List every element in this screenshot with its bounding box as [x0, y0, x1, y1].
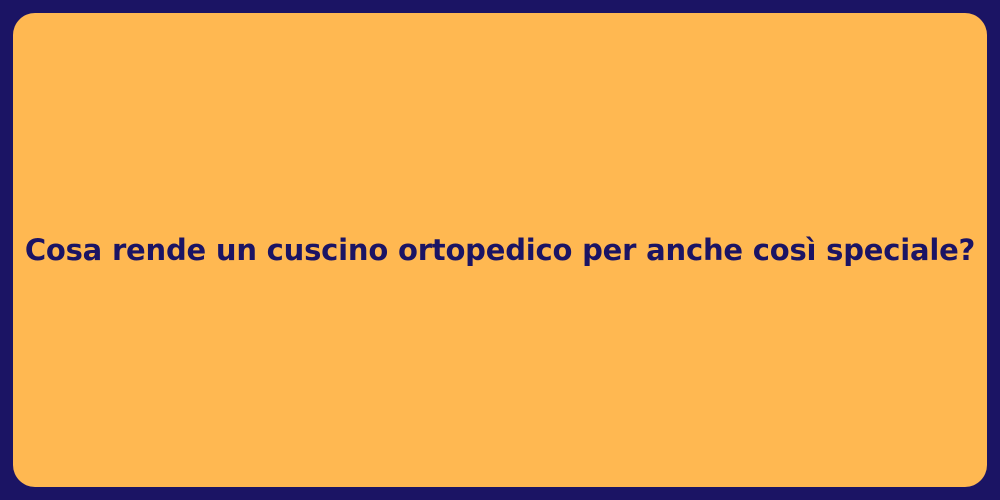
card-frame: Cosa rende un cuscino ortopedico per anc…: [0, 0, 1000, 500]
page-title: Cosa rende un cuscino ortopedico per anc…: [25, 232, 975, 268]
card-panel: Cosa rende un cuscino ortopedico per anc…: [13, 13, 987, 487]
